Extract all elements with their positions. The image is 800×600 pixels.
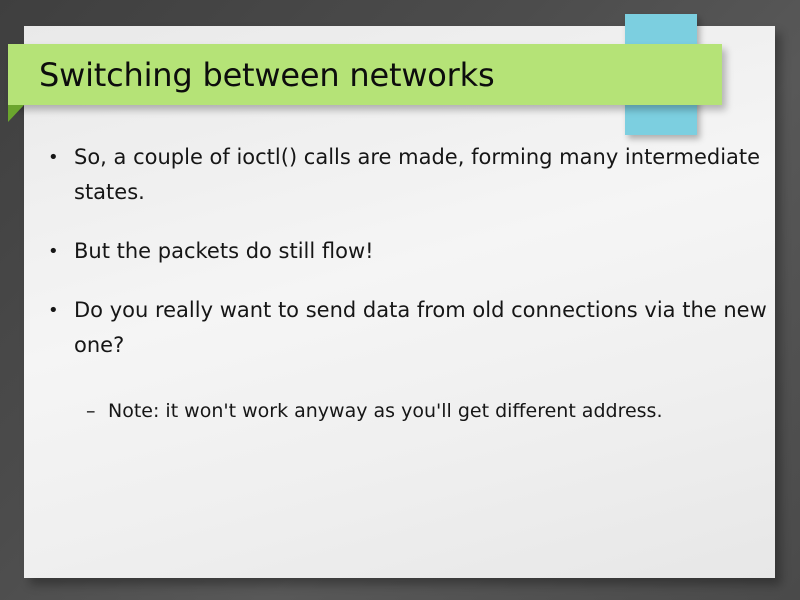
banner-fold-icon <box>8 105 24 122</box>
sub-list-item: – Note: it won't work anyway as you'll g… <box>24 395 776 428</box>
slide-body: • So, a couple of ioctl() calls are made… <box>24 140 776 440</box>
slide-frame: Switching between networks • So, a coupl… <box>0 0 800 600</box>
list-item: • But the packets do still flow! <box>24 234 776 269</box>
list-item-label: But the packets do still flow! <box>74 239 374 263</box>
bullet-marker-icon: • <box>48 293 59 328</box>
spacer <box>24 381 776 395</box>
sub-list-item-label: Note: it won't work anyway as you'll get… <box>108 400 663 422</box>
bullet-marker-icon: • <box>48 234 59 269</box>
list-item: • Do you really want to send data from o… <box>24 293 776 363</box>
list-item-label: Do you really want to send data from old… <box>74 298 767 357</box>
title-banner: Switching between networks <box>8 44 722 105</box>
list-item: • So, a couple of ioctl() calls are made… <box>24 140 776 210</box>
page-title: Switching between networks <box>39 59 494 91</box>
dash-marker-icon: – <box>86 395 96 428</box>
bullet-marker-icon: • <box>48 140 59 175</box>
list-item-label: So, a couple of ioctl() calls are made, … <box>74 145 760 204</box>
